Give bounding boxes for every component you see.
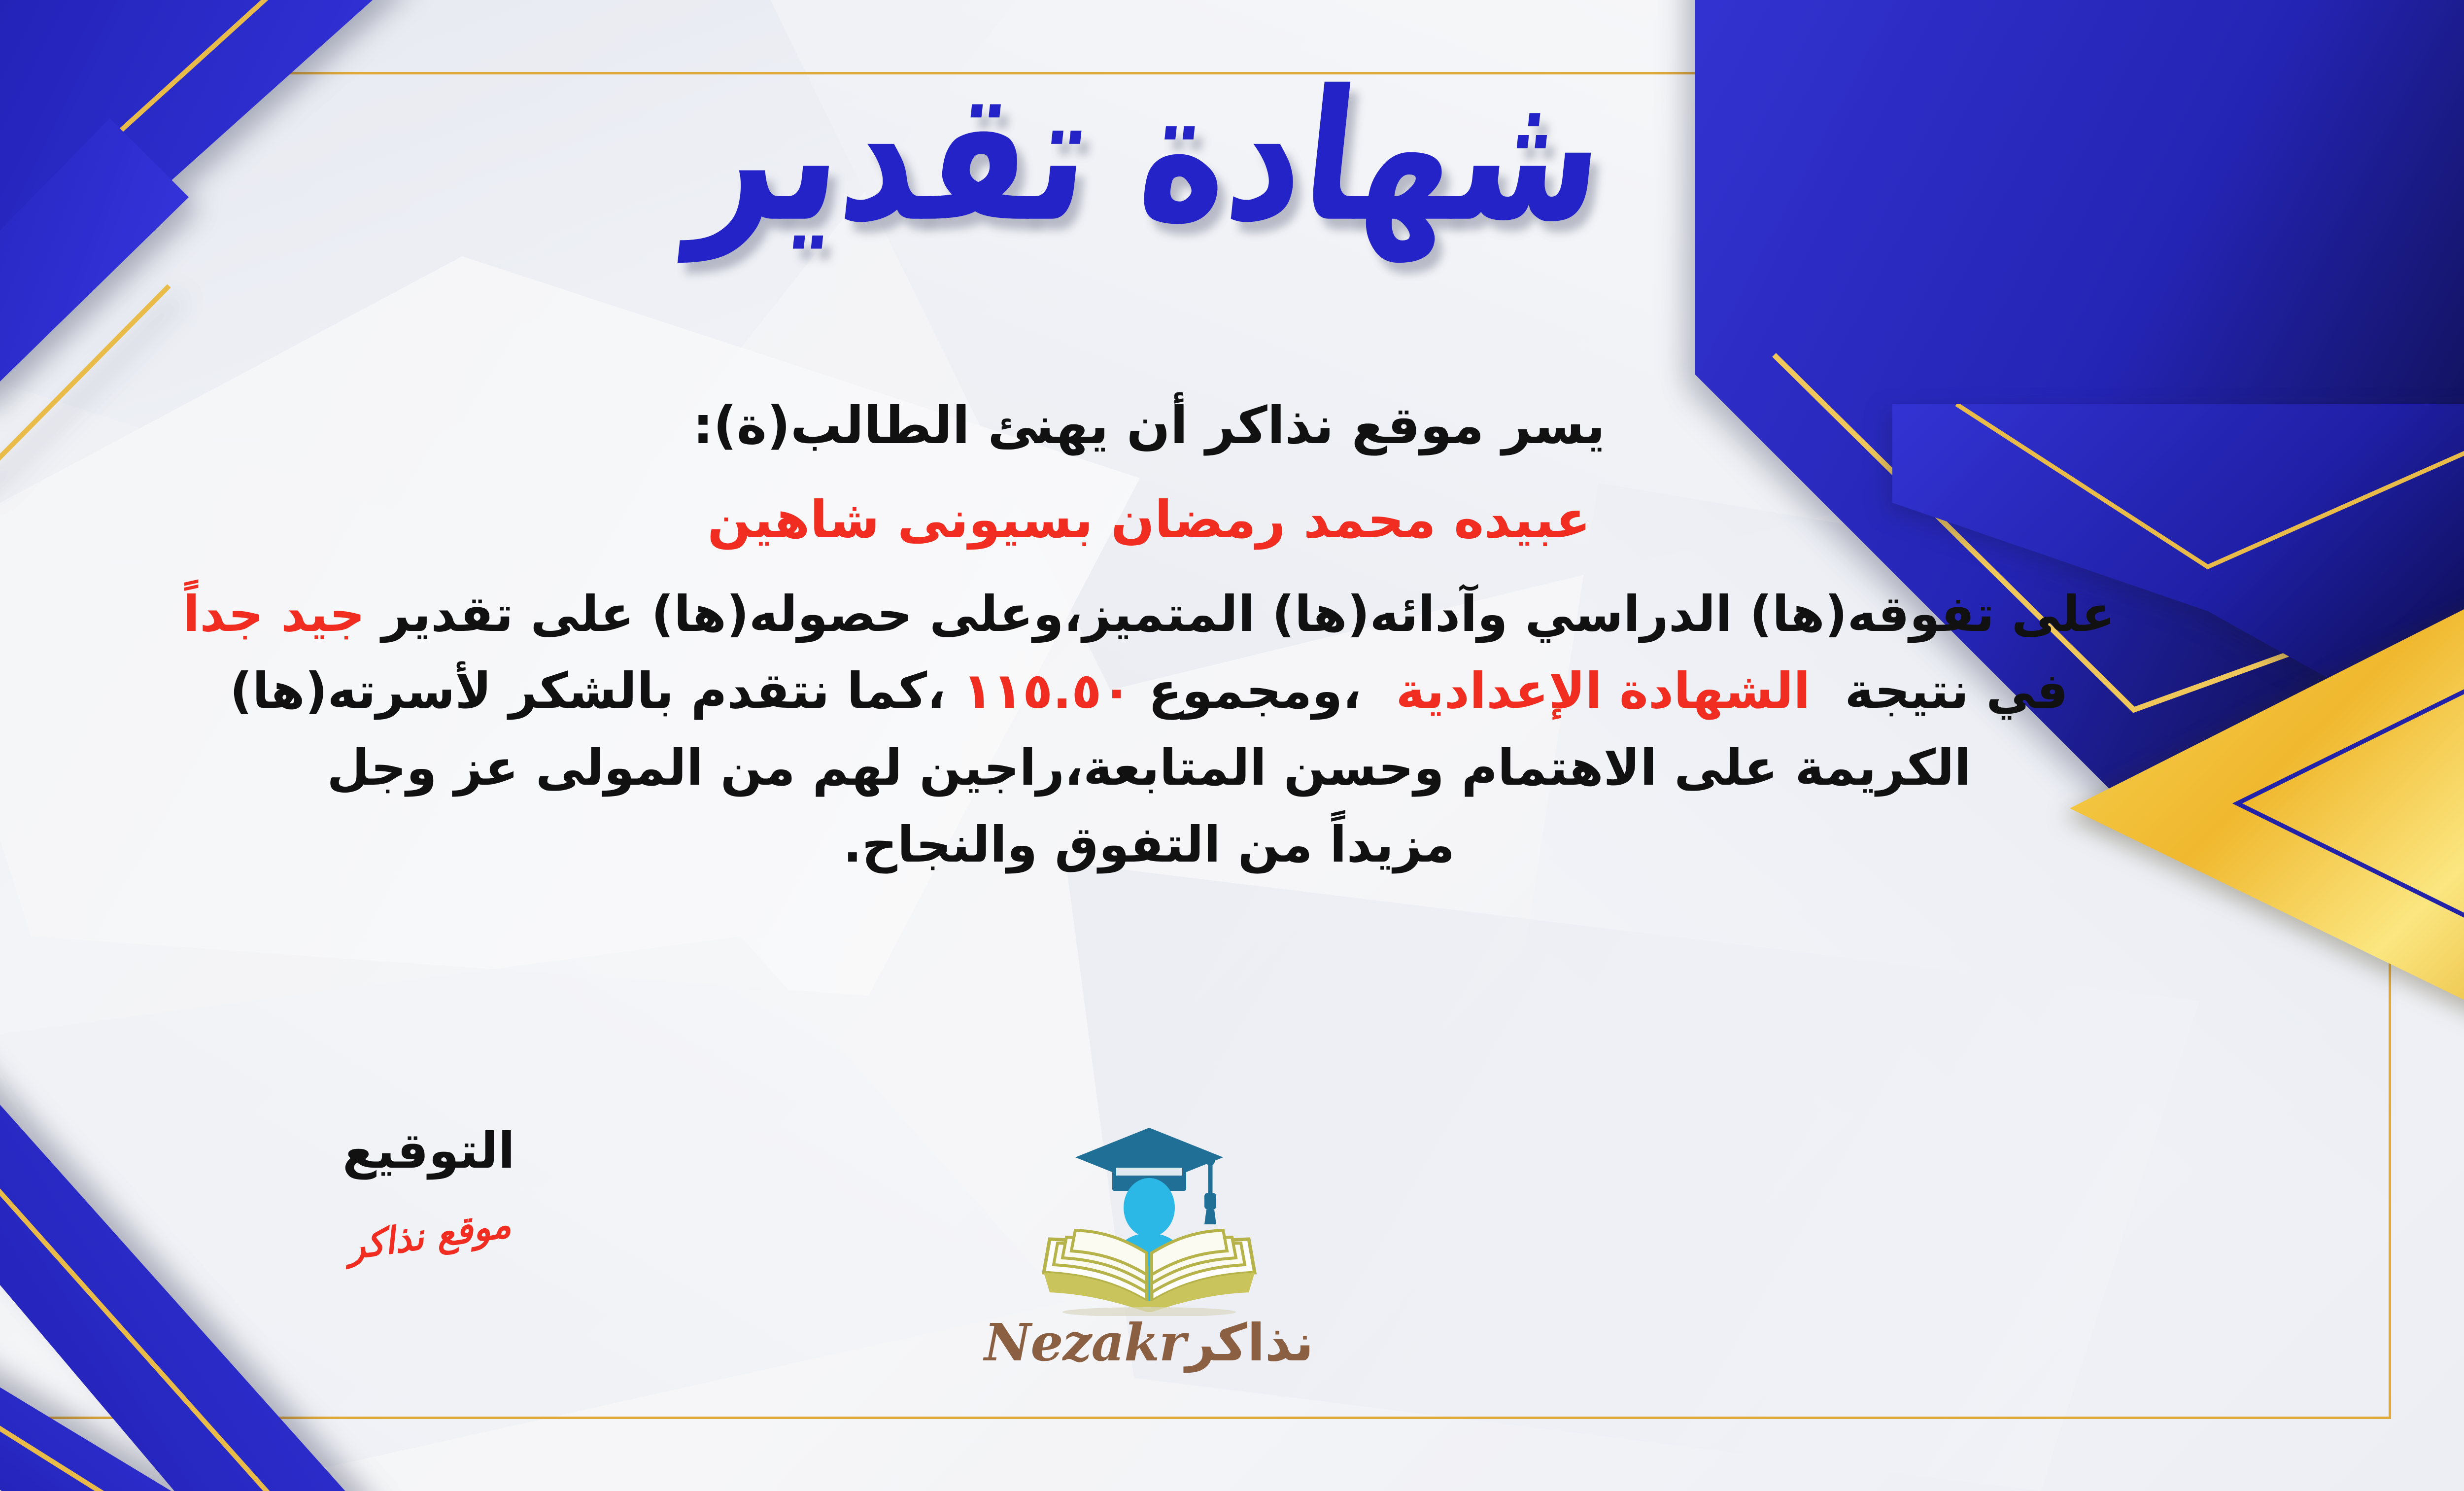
certificate-canvas: شهادة تقدير يسر موقع نذاكر أن يهنئ الطال… xyxy=(0,0,2464,1491)
logo-arabic: نذاكر xyxy=(1186,1313,1314,1373)
greeting-line: يسر موقع نذاكر أن يهنئ الطالب(ة): xyxy=(0,389,2341,462)
student-name: عبيده محمد رمضان بسيونى شاهين xyxy=(0,484,2341,556)
graduate-book-logo-icon xyxy=(1011,1119,1287,1316)
result-prefix: في نتيجة xyxy=(1845,662,2068,720)
thanks-text: ،كما نتقدم بالشكر لأسرته(ها) xyxy=(230,662,946,720)
exam-name: الشهادة الإعدادية xyxy=(1396,662,1810,720)
page-title: شهادة تقدير xyxy=(683,44,1614,270)
certificate-body: يسر موقع نذاكر أن يهنئ الطالب(ة): عبيده … xyxy=(0,389,2341,886)
total-prefix: ،ومجموع xyxy=(1148,662,1361,720)
total-score: ١١٥.٥٠ xyxy=(962,662,1131,720)
achievement-text-a: على تفوقه(ها) الدراسي وآدائه(ها) المتميز… xyxy=(382,585,2115,643)
achievement-line-1: على تفوقه(ها) الدراسي وآدائه(ها) المتميز… xyxy=(0,578,2341,650)
logo-wordmark: نذاكرNezakr xyxy=(984,1312,1313,1373)
grade-value: جيد جداً xyxy=(183,585,365,643)
brand-logo: نذاكرNezakr xyxy=(0,1119,2464,1373)
logo-latin: Nezakr xyxy=(984,1312,1186,1373)
achievement-line-3: الكريمة على الاهتمام وحسن المتابعة،راجين… xyxy=(0,732,2341,804)
certificate-footer: التوقيع موقع نذاكر xyxy=(0,1124,2464,1429)
achievement-line-4: مزيداً من التفوق والنجاح. xyxy=(0,809,2341,881)
certificate-title-wrap: شهادة تقدير xyxy=(0,64,2464,249)
achievement-line-2: في نتيجةالشهادة الإعدادية،ومجموع١١٥.٥٠،ك… xyxy=(0,655,2341,727)
